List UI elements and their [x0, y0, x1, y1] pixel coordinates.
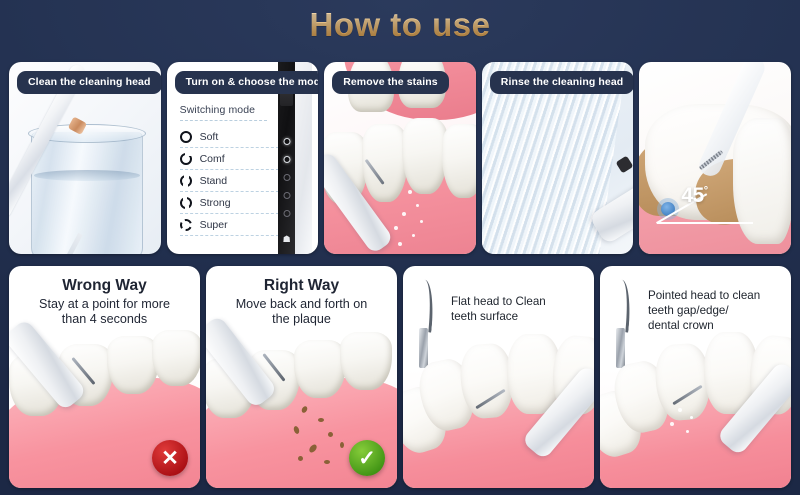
- status-badge-success: ✓: [349, 440, 385, 476]
- led-indicator-1: [283, 138, 290, 145]
- right-way-title: Right Way: [206, 277, 397, 295]
- tooth: [340, 332, 392, 390]
- pointed-head-caption-wrap: Pointed head to clean teeth gap/edge/ de…: [648, 288, 785, 333]
- wrong-way-title: Wrong Way: [9, 277, 200, 295]
- led-indicator-3: [283, 174, 290, 181]
- poster-root: How to use Clean the cleaning head Turn …: [0, 0, 800, 495]
- led-indicator-4: [283, 192, 290, 199]
- mode-label: Comf: [200, 153, 225, 165]
- mode-ring-icon: [180, 219, 192, 231]
- mode-label: Stand: [200, 175, 227, 187]
- plaque-particle: [328, 432, 333, 437]
- tooth: [733, 118, 791, 244]
- switching-mode-heading: Switching mode: [180, 104, 256, 116]
- plaque-particle: [318, 418, 324, 422]
- tip-panel-flat-head[interactable]: Flat head to Clean teeth surface: [403, 266, 594, 488]
- mode-ring-icon: [180, 131, 192, 143]
- right-way-description: Move back and forth on the plaque: [206, 297, 397, 328]
- mode-ring-icon: [180, 153, 192, 165]
- mode-ring-icon: [180, 197, 192, 209]
- led-indicator-2: [283, 156, 290, 163]
- angle-number: 45: [681, 184, 703, 207]
- tip-panel-right-way[interactable]: Right Way Move back and forth on the pla…: [206, 266, 397, 488]
- pointed-head-caption: Pointed head to clean teeth gap/edge/ de…: [648, 288, 785, 333]
- status-badge-error: ✕: [152, 440, 188, 476]
- particle: [670, 422, 674, 426]
- flat-head-caption-wrap: Flat head to Clean teeth surface: [451, 294, 586, 324]
- angle-value: 45°: [681, 184, 707, 208]
- tip-panel-pointed-head[interactable]: Pointed head to clean teeth gap/edge/ de…: [600, 266, 791, 488]
- mode-row-super[interactable]: Super: [180, 214, 284, 236]
- tooth-icon: ☗: [282, 234, 291, 244]
- tip-panel-wrong-way[interactable]: Wrong Way Stay at a point for more than …: [9, 266, 200, 488]
- tooth: [294, 340, 346, 398]
- tooth: [152, 330, 200, 386]
- angle-baseline: [657, 222, 753, 224]
- right-way-text: Right Way Move back and forth on the pla…: [206, 277, 397, 328]
- step-panel-clean-head[interactable]: Clean the cleaning head: [9, 62, 161, 254]
- mode-row-soft[interactable]: Soft: [180, 126, 284, 148]
- step-label-3: Remove the stains: [332, 71, 448, 94]
- wrong-way-text: Wrong Way Stay at a point for more than …: [9, 277, 200, 328]
- steps-row-top: Clean the cleaning head Turn on & choose…: [9, 62, 791, 254]
- angle-scene: 45°: [639, 62, 791, 254]
- mode-label: Soft: [200, 131, 219, 143]
- step-label-4: Rinse the cleaning head: [490, 71, 634, 94]
- step-panel-angle-45[interactable]: 45°: [639, 62, 791, 254]
- plaque-particle: [324, 460, 330, 464]
- mode-row-strong[interactable]: Strong: [180, 192, 284, 214]
- mode-row-stand[interactable]: Stand: [180, 170, 284, 192]
- page-title-wrap: How to use: [0, 6, 800, 44]
- step-label-1: Clean the cleaning head: [17, 71, 161, 94]
- particle: [678, 408, 682, 412]
- mode-list: Soft Comf Stand Strong Super: [180, 126, 284, 236]
- tips-row-bottom: Wrong Way Stay at a point for more than …: [9, 266, 791, 488]
- step-panel-remove-stains[interactable]: Remove the stains: [324, 62, 476, 254]
- step-panel-rinse-head[interactable]: Rinse the cleaning head: [482, 62, 634, 254]
- page-title: How to use: [309, 6, 490, 44]
- plaque-particle: [340, 442, 344, 448]
- tooth: [442, 124, 476, 198]
- wrong-way-description: Stay at a point for more than 4 seconds: [9, 297, 200, 328]
- flat-head-caption: Flat head to Clean teeth surface: [451, 294, 586, 324]
- led-indicator-5: [283, 210, 290, 217]
- step-label-2: Turn on & choose the mode: [175, 71, 319, 94]
- particle: [690, 416, 693, 419]
- mode-ring-icon: [180, 175, 192, 187]
- step-panel-choose-mode[interactable]: Turn on & choose the mode Switching mode…: [167, 62, 319, 254]
- mode-row-comf[interactable]: Comf: [180, 148, 284, 170]
- water-glass-icon: [31, 132, 143, 254]
- plaque-particle: [298, 456, 303, 461]
- degree-symbol: °: [704, 185, 708, 197]
- mode-label: Strong: [200, 197, 231, 209]
- nozzle: [616, 156, 633, 174]
- mode-label: Super: [200, 219, 228, 231]
- particle: [686, 430, 689, 433]
